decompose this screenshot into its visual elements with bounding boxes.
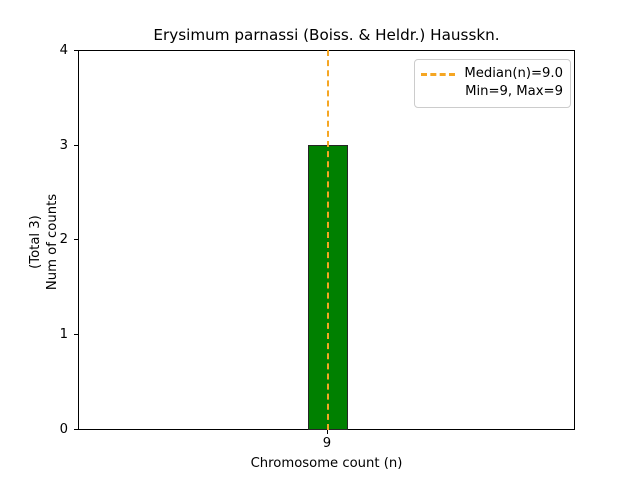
legend-box: Median(n)=9.0 Min=9, Max=9 (414, 59, 571, 108)
xtick-label-9: 9 (307, 437, 347, 451)
ytick-mark-1 (74, 334, 78, 335)
dashed-line-icon (421, 73, 455, 76)
legend-entry-minmax: Min=9, Max=9 (422, 83, 563, 101)
figure-canvas: Erysimum parnassi (Boiss. & Heldr.) Haus… (0, 0, 640, 480)
y-axis-label-line1: Num of counts (44, 194, 61, 290)
ytick-mark-0 (74, 429, 78, 430)
ytick-label-1: 1 (60, 328, 68, 341)
ytick-mark-3 (74, 145, 78, 146)
legend-label-median: Median(n)=9.0 (464, 65, 563, 83)
y-axis-label-line2: (Total 3) (27, 215, 44, 269)
ytick-mark-2 (74, 239, 78, 240)
chart-title: Erysimum parnassi (Boiss. & Heldr.) Haus… (78, 26, 575, 44)
ytick-mark-4 (74, 50, 78, 51)
y-axis-label: (Total 3) Num of counts (24, 52, 64, 432)
ytick-label-4: 4 (60, 44, 68, 57)
ytick-label-0: 0 (60, 423, 68, 436)
median-line (327, 50, 329, 430)
legend-label-minmax: Min=9, Max=9 (465, 83, 563, 101)
ytick-label-3: 3 (60, 139, 68, 152)
ytick-label-2: 2 (60, 233, 68, 246)
xtick-mark-9 (327, 430, 328, 434)
x-axis-label: Chromosome count (n) (78, 456, 575, 471)
legend-entry-median: Median(n)=9.0 (422, 65, 563, 83)
